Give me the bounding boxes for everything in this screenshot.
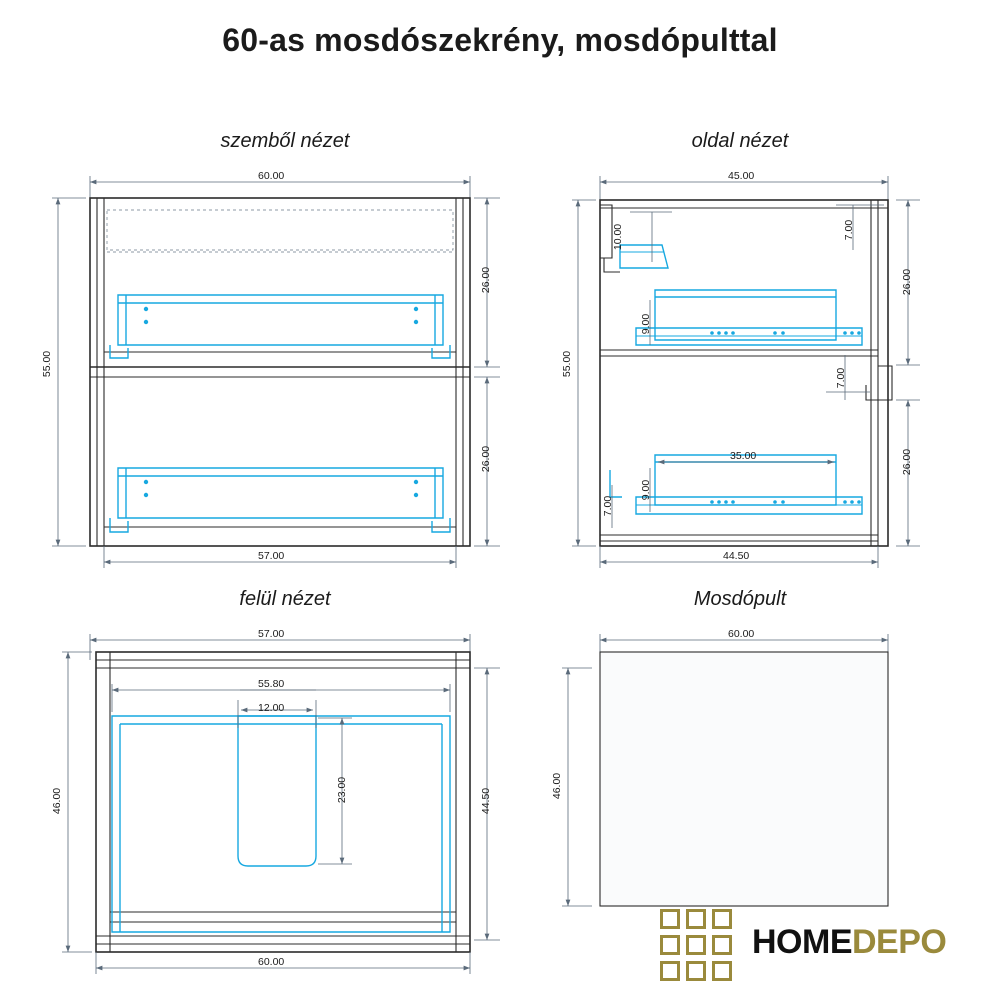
dim-side-runner-lower-left: 7.00: [602, 496, 614, 516]
logo-text: HOMEDEPO: [752, 923, 946, 962]
dim-front-width-bottom: 57.00: [258, 550, 284, 562]
dim-side-height-lower-right: 26.00: [901, 449, 913, 475]
logo-text-depo: DEPO: [852, 923, 946, 961]
dim-top-width-bottom: 60.00: [258, 956, 284, 968]
dim-side-drawer-inner: 35.00: [730, 450, 756, 462]
dim-side-runner-upper: 9.00: [640, 314, 652, 334]
dim-side-height-upper-right: 26.00: [901, 269, 913, 295]
dim-side-depth-upper-right: 7.00: [843, 220, 855, 240]
dim-side-width-bottom: 44.50: [723, 550, 749, 562]
logo-text-home: HOME: [752, 923, 852, 961]
dim-side-runner-lower: 9.00: [640, 480, 652, 500]
dim-top-inner-width: 55.80: [258, 678, 284, 690]
view-label-counter: Mosdópult: [635, 588, 845, 611]
dim-front-height-lower: 26.00: [480, 446, 492, 472]
dim-front-height-upper: 26.00: [480, 267, 492, 293]
dim-front-width-top: 60.00: [258, 170, 284, 182]
dim-side-depth-upper-left: 10.00: [612, 224, 624, 250]
technical-drawing: .dk{stroke:#2b2b2b;fill:none;stroke-widt…: [0, 0, 1000, 1000]
dim-top-cutout-width: 12.00: [258, 702, 284, 714]
dim-top-depth-left: 46.00: [51, 788, 63, 814]
dim-counter-width: 60.00: [728, 628, 754, 640]
dim-side-runner-upper-right: 7.00: [835, 368, 847, 388]
dim-side-height-total: 55.00: [561, 351, 573, 377]
view-label-top: felül nézet: [180, 588, 390, 611]
squares-grid-icon: [660, 909, 738, 981]
dim-top-cutout-depth: 23.00: [336, 777, 348, 803]
page-title: 60-as mosdószekrény, mosdópulttal: [0, 22, 1000, 59]
brand-logo: HOMEDEPO: [660, 905, 990, 985]
dim-side-width-top: 45.00: [728, 170, 754, 182]
view-label-side: oldal nézet: [635, 130, 845, 153]
dim-top-width-top: 57.00: [258, 628, 284, 640]
dim-counter-depth: 46.00: [551, 773, 563, 799]
view-label-front: szemből nézet: [180, 130, 390, 153]
dim-front-height-total: 55.00: [41, 351, 53, 377]
drawing-page: 60-as mosdószekrény, mosdópulttal szembő…: [0, 0, 1000, 1000]
dim-top-depth-right: 44.50: [480, 788, 492, 814]
